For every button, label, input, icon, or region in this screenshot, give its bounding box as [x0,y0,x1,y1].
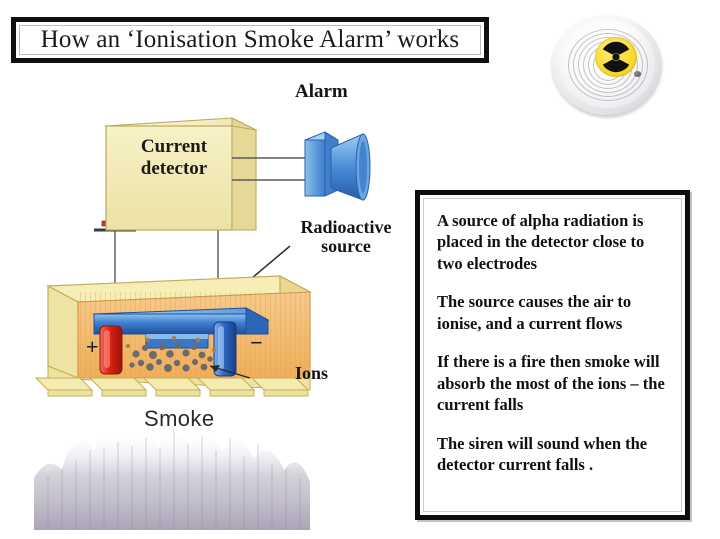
title-box: How an ‘Ionisation Smoke Alarm’ works [11,17,489,63]
explanation-paragraph: If there is a fire then smoke will absor… [437,351,669,415]
negative-electrode-label: − [250,330,263,356]
explanation-box: A source of alpha radiation is placed in… [415,190,690,520]
radiation-trefoil-icon [595,37,637,77]
current-detector-label: Current detector [114,136,234,181]
smoke-alarm-photo [548,9,666,121]
current-detector-label-line1: Current [141,136,207,157]
ions-label: Ions [295,364,328,383]
trefoil-svg [595,37,637,77]
radioactive-source-label-line2: source [321,236,371,256]
smoke-alarm-diagram: Current detector Alarm Radioactive sourc… [18,78,410,530]
explanation-paragraph: The siren will sound when the detector c… [437,433,669,476]
explanation-box-inner: A source of alpha radiation is placed in… [423,198,682,512]
radioactive-source-label-line1: Radioactive [301,217,392,237]
positive-electrode-label: + [86,334,99,360]
smoke-label: Smoke [144,406,214,432]
current-detector-label-line2: detector [141,158,207,179]
explanation-paragraph: The source causes the air to ionise, and… [437,291,669,334]
explanation-paragraph: A source of alpha radiation is placed in… [437,210,669,274]
title-box-inner: How an ‘Ionisation Smoke Alarm’ works [19,25,481,55]
alarm-label: Alarm [295,82,348,102]
radioactive-source-label: Radioactive source [294,218,398,255]
alarm-led-icon [634,71,641,77]
page-title: How an ‘Ionisation Smoke Alarm’ works [41,26,460,54]
